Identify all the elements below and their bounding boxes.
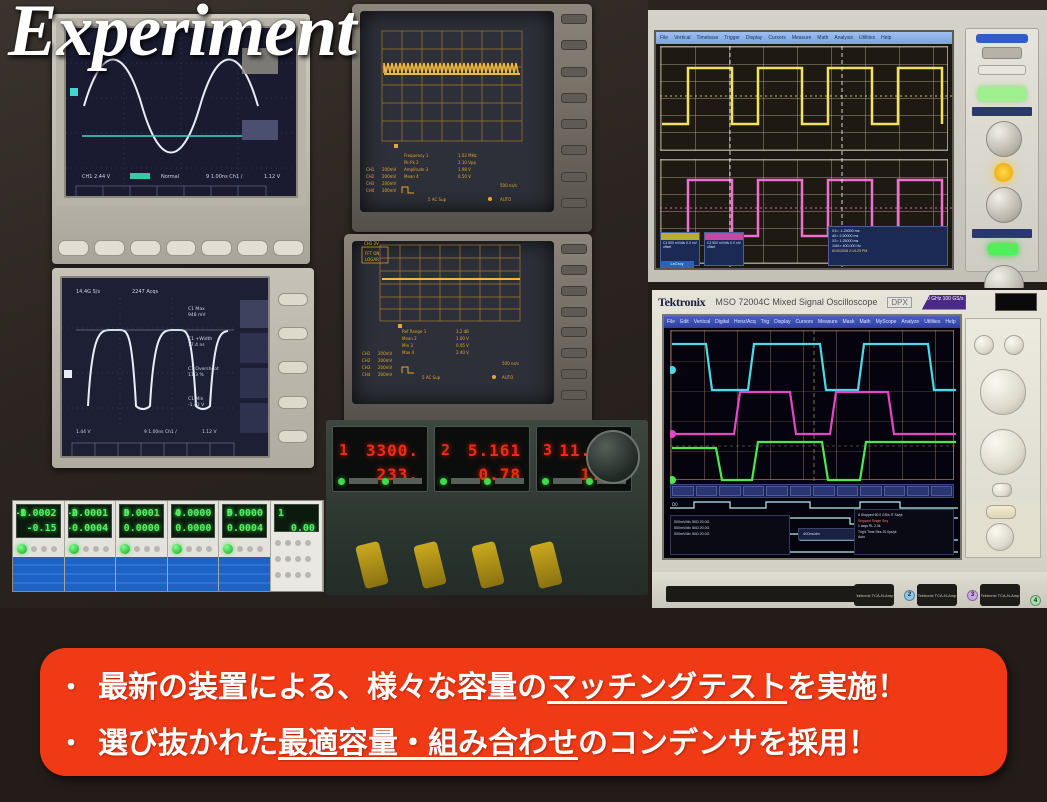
svg-text:Max 4: Max 4 bbox=[402, 350, 415, 355]
lecroy-knob-1[interactable] bbox=[986, 121, 1022, 157]
photo-oscilloscope-clipped: 14.4G S/s 2247 Acqs C1 Max948 mV C1 +Wid… bbox=[52, 268, 314, 468]
svg-text:CH3: CH3 bbox=[362, 365, 371, 370]
psu-1-power-led bbox=[17, 544, 27, 554]
lecroy-menu-utilities[interactable]: Utilities bbox=[859, 35, 875, 41]
psu-2-button[interactable] bbox=[103, 546, 109, 552]
svg-text:Mean 4: Mean 4 bbox=[404, 174, 419, 179]
lecroy-ch1-settings: C1 500 mV/div 0.0 mV offset bbox=[661, 240, 699, 250]
svg-text:9 1.00ns Ch1 /: 9 1.00ns Ch1 / bbox=[144, 429, 177, 435]
psu-3-button[interactable] bbox=[134, 546, 140, 552]
tek-mini-display bbox=[995, 293, 1037, 311]
psu-ctrl-keys[interactable] bbox=[271, 567, 322, 583]
tek-channel-2-connector[interactable]: 2 Tektronix TCA-N-Amp bbox=[904, 584, 957, 606]
meter-2-led bbox=[440, 478, 447, 485]
scope-b-waveform: 14.4G S/s 2247 Acqs C1 Max948 mV C1 +Wid… bbox=[62, 278, 270, 458]
svg-text:200mV: 200mV bbox=[378, 365, 393, 370]
psu-5-controls[interactable] bbox=[219, 541, 270, 557]
lecroy-section-header-2 bbox=[972, 229, 1032, 238]
psu-ctrl-channel: 1 bbox=[278, 508, 284, 519]
scope-a-softkey[interactable] bbox=[130, 240, 161, 256]
psu-module-1: 1 -0.0002 -0.15 bbox=[13, 501, 65, 591]
tek-chassis: Tektronix MSO 72004C Mixed Signal Oscill… bbox=[652, 290, 1047, 608]
tek-front-panel[interactable] bbox=[965, 318, 1041, 558]
psu-4-button[interactable] bbox=[196, 546, 202, 552]
psu-ctrl-key[interactable] bbox=[275, 572, 281, 578]
psu-ctrl-key[interactable] bbox=[295, 556, 301, 562]
summary-banner: ・ 最新の装置による、様々な容量の マッチングテスト を実施！ ・ 選び抜かれた… bbox=[40, 648, 1007, 776]
psu-controller-module: 1 0.00 bbox=[271, 501, 323, 591]
meter-channel-2: 2 5.161 0.78 bbox=[434, 426, 530, 492]
amber-1-softkey[interactable] bbox=[561, 93, 587, 103]
tek-bezel-button[interactable] bbox=[992, 483, 1012, 497]
banner-line-2: ・ 選び抜かれた 最適容量・組み合わせ のコンデンサを採用！ bbox=[58, 716, 989, 772]
tek-bus-segment bbox=[884, 486, 906, 496]
lecroy-front-panel[interactable] bbox=[965, 28, 1039, 272]
psu-ctrl-key[interactable] bbox=[285, 540, 291, 546]
tek-model-label: MSO 72004C Mixed Signal Oscilloscope bbox=[715, 297, 877, 307]
psu-1-value-b: -0.15 bbox=[26, 523, 56, 534]
psu-5-button[interactable] bbox=[237, 546, 243, 552]
tek-bus-segment bbox=[907, 486, 929, 496]
rack-rotary-knob[interactable] bbox=[586, 430, 640, 484]
lecroy-menu-analysis[interactable]: Analysis bbox=[834, 35, 853, 41]
tek-ch2-badge: 2 bbox=[904, 590, 915, 601]
tek-top-header: Tektronix MSO 72004C Mixed Signal Oscill… bbox=[658, 292, 1041, 312]
meter-2-led bbox=[484, 478, 491, 485]
svg-text:AUTO: AUTO bbox=[502, 375, 513, 380]
lecroy-menu-cursors[interactable]: Cursors bbox=[768, 35, 786, 41]
svg-text:200mV: 200mV bbox=[378, 351, 393, 356]
psu-5-button[interactable] bbox=[247, 546, 253, 552]
scope-b-softkey[interactable] bbox=[278, 396, 308, 409]
svg-text:200mV: 200mV bbox=[382, 174, 397, 179]
svg-text:CH1 2.44 V: CH1 2.44 V bbox=[82, 174, 111, 180]
tek-menubar[interactable]: File Edit Vertical Digital Horiz/Acq Tri… bbox=[664, 316, 960, 328]
banner-bullet-1: ・ bbox=[58, 660, 84, 716]
banner-line2-highlight: 最適容量・組み合わせ bbox=[278, 716, 578, 772]
amber-2-softkey[interactable] bbox=[561, 307, 587, 317]
tek-logo-small: Tek bbox=[961, 319, 962, 325]
meter-1-value-top: 3300. bbox=[366, 441, 419, 460]
tek-digital-label-d0: D0 bbox=[672, 502, 678, 507]
tek-menu-mask[interactable]: Mask bbox=[843, 319, 855, 325]
tek-menu-edit[interactable]: Edit bbox=[680, 319, 689, 325]
photo-tektronix-oscilloscope: Tektronix MSO 72004C Mixed Signal Oscill… bbox=[648, 290, 1047, 608]
scope-b-softkey[interactable] bbox=[278, 327, 308, 340]
svg-text:11.3 %: 11.3 % bbox=[188, 372, 204, 378]
tek-menu-file[interactable]: File bbox=[667, 319, 675, 325]
tek-ch4-badge: 4 bbox=[1030, 595, 1041, 606]
svg-text:LOGAR: LOGAR bbox=[365, 257, 379, 262]
psu-4-value-a: 0.0000 bbox=[175, 508, 211, 519]
amber-1-softkey[interactable] bbox=[561, 172, 587, 182]
meter-1-button[interactable] bbox=[349, 478, 378, 484]
psu-ctrl-key[interactable] bbox=[305, 556, 311, 562]
tek-menu-myscope[interactable]: MyScope bbox=[876, 319, 897, 325]
svg-text:FFT ON: FFT ON bbox=[365, 251, 379, 256]
rack-connector-area bbox=[326, 503, 648, 595]
amber-1-waveform: Frequency 1Pk-Pk 2 Amplitude 3Mean 4 1.0… bbox=[360, 11, 554, 212]
svg-text:CH1: CH1 bbox=[366, 167, 375, 172]
psu-4-button[interactable] bbox=[186, 546, 192, 552]
svg-text:Pk-Pk 2: Pk-Pk 2 bbox=[404, 160, 419, 165]
tek-readout-row-3: 500mV/div 50Ω 20.0G bbox=[674, 531, 786, 537]
meter-2-channel: 2 bbox=[441, 441, 451, 459]
lecroy-brand-logo: LeCroy bbox=[660, 261, 694, 268]
psu-ctrl-key[interactable] bbox=[275, 540, 281, 546]
page-title: Experiment bbox=[8, 0, 356, 68]
meter-channel-1: 1 3300. 233. bbox=[332, 426, 428, 492]
amber-1-softkeys[interactable] bbox=[561, 14, 587, 208]
psu-3-button[interactable] bbox=[154, 546, 160, 552]
tek-bus-segment bbox=[672, 486, 694, 496]
tek-menu-cursors[interactable]: Cursors bbox=[796, 319, 814, 325]
psu-3-value-b: 0.0000 bbox=[124, 523, 160, 534]
banner-bullet-2: ・ bbox=[58, 716, 84, 772]
lecroy-menu-timebase[interactable]: Timebase bbox=[696, 35, 718, 41]
banana-plug[interactable] bbox=[529, 541, 563, 589]
banner-line1-part3: を実施！ bbox=[787, 660, 907, 716]
psu-3-value-a: 0.0001 bbox=[124, 508, 160, 519]
svg-text:500 ns/s: 500 ns/s bbox=[500, 183, 517, 188]
tek-brand-logo: Tektronix bbox=[658, 295, 705, 310]
lecroy-white-button[interactable] bbox=[978, 65, 1026, 75]
svg-text:200mV: 200mV bbox=[378, 358, 393, 363]
meter-2-button[interactable] bbox=[495, 478, 524, 484]
psu-ctrl-keys[interactable] bbox=[271, 535, 322, 551]
lecroy-grey-button[interactable] bbox=[982, 47, 1022, 59]
svg-text:C1 Max: C1 Max bbox=[188, 306, 205, 312]
svg-text:3.2 dB: 3.2 dB bbox=[456, 329, 469, 334]
svg-text:1.44 V: 1.44 V bbox=[76, 429, 91, 435]
tek-trigger-button[interactable] bbox=[986, 505, 1016, 519]
svg-text:948 mV: 948 mV bbox=[188, 312, 206, 318]
tek-trigger-level-knob[interactable] bbox=[986, 523, 1014, 551]
psu-3-power-led bbox=[120, 544, 130, 554]
psu-4-power-led bbox=[172, 544, 182, 554]
amber-1-screen: Frequency 1Pk-Pk 2 Amplitude 3Mean 4 1.0… bbox=[360, 11, 554, 212]
psu-2-controls[interactable] bbox=[65, 541, 116, 557]
scope-b-softkey[interactable] bbox=[278, 361, 308, 374]
psu-ctrl-keys[interactable] bbox=[271, 551, 322, 567]
equipment-collage-left: CH1 2.44 V Normal 9 1.00ns Ch1 / 1.12 V bbox=[0, 0, 648, 608]
lecroy-menu-file[interactable]: File bbox=[660, 35, 668, 41]
lecroy-timestamp: 6/15/2008 2:19:25 PM bbox=[832, 249, 944, 254]
lecroy-knob-2[interactable] bbox=[986, 187, 1022, 223]
tek-menu-horizacq[interactable]: Horiz/Acq bbox=[734, 319, 756, 325]
svg-text:0.50 V: 0.50 V bbox=[458, 174, 471, 179]
photo-lecroy-oscilloscope: File Vertical Timebase Trigger Display C… bbox=[648, 0, 1047, 288]
amber-2-softkeys[interactable] bbox=[561, 244, 587, 400]
tek-acq-row-5: Auto bbox=[858, 535, 950, 541]
slide-root: CH1 2.44 V Normal 9 1.00ns Ch1 / 1.12 V bbox=[0, 0, 1047, 802]
psu-2-value-a: -0.0001 bbox=[68, 508, 109, 519]
svg-text:C1 Min: C1 Min bbox=[188, 396, 204, 402]
psu-3-body bbox=[116, 557, 167, 591]
psu-ctrl-key[interactable] bbox=[295, 540, 301, 546]
tek-menu-display[interactable]: Display bbox=[774, 319, 790, 325]
tek-dpx-label: DPX bbox=[887, 297, 911, 308]
psu-module-3: 3 0.0001 0.0000 bbox=[116, 501, 168, 591]
photo-power-meter-rack: 1 3300. 233. 2 5.161 0.78 3 11.904 1.79 bbox=[326, 420, 648, 595]
meter-1-controls[interactable] bbox=[333, 471, 427, 491]
tek-default-setup-knob[interactable] bbox=[1004, 335, 1024, 355]
svg-text:2247 Acqs: 2247 Acqs bbox=[132, 289, 159, 295]
tek-bus-segment bbox=[743, 486, 765, 496]
scope-a-softkey[interactable] bbox=[201, 240, 232, 256]
svg-text:CH3: CH3 bbox=[366, 181, 375, 186]
tek-bus-segment bbox=[813, 486, 835, 496]
lecroy-ch2-label-box: C2 500 mV/div 0.0 mV offset bbox=[704, 232, 744, 266]
banner-line-1: ・ 最新の装置による、様々な容量の マッチングテスト を実施！ bbox=[58, 660, 989, 716]
amber-1-softkey[interactable] bbox=[561, 40, 587, 50]
tek-horizontal-scale-knob[interactable] bbox=[980, 429, 1026, 475]
psu-2-button[interactable] bbox=[83, 546, 89, 552]
svg-text:CH4: CH4 bbox=[366, 188, 375, 193]
tek-menu-help[interactable]: Help bbox=[945, 319, 955, 325]
svg-text:200mV: 200mV bbox=[382, 181, 397, 186]
psu-2-button[interactable] bbox=[93, 546, 99, 552]
psu-1-button[interactable] bbox=[41, 546, 47, 552]
psu-1-body bbox=[13, 557, 64, 591]
amber-2-screen: CH1 2V FFT ONLOGAR Ref Range 1Mean 2 Min… bbox=[352, 241, 554, 404]
psu-ctrl-key[interactable] bbox=[305, 540, 311, 546]
svg-text:500 ns/s: 500 ns/s bbox=[502, 361, 519, 366]
psu-4-controls[interactable] bbox=[168, 541, 219, 557]
tek-bandwidth-badge: 20 GHz 100 GS/s bbox=[922, 295, 966, 310]
svg-text:5 AC Sup: 5 AC Sup bbox=[428, 197, 447, 202]
lecroy-ch2-settings: C2 500 mV/div 0.0 mV offset bbox=[705, 240, 743, 250]
banana-plug[interactable] bbox=[355, 541, 389, 589]
tek-channel-3-connector[interactable]: 3 Tektronix TCA-N-Amp bbox=[967, 584, 1020, 606]
photo-psu-rack: 1 -0.0002 -0.15 2 -0.0001 -0.0004 3 bbox=[12, 500, 324, 592]
svg-text:0.05 V: 0.05 V bbox=[456, 343, 469, 348]
svg-text:9 1.00ns Ch1 /: 9 1.00ns Ch1 / bbox=[206, 174, 243, 180]
svg-text:2.10 Vpp: 2.10 Vpp bbox=[458, 160, 476, 165]
amber-2-softkey[interactable] bbox=[561, 244, 587, 254]
svg-text:1.12 V: 1.12 V bbox=[202, 429, 217, 435]
svg-text:Ref Range 1: Ref Range 1 bbox=[402, 329, 427, 334]
svg-text:CH2: CH2 bbox=[366, 174, 375, 179]
svg-text:CH1: CH1 bbox=[362, 351, 371, 356]
psu-4-body bbox=[168, 557, 219, 591]
tek-ch1-probe[interactable]: Tektronix TCA-N-Amp bbox=[854, 584, 894, 606]
lecroy-amber-indicator bbox=[994, 163, 1013, 182]
svg-text:1.00 V: 1.00 V bbox=[456, 336, 469, 341]
amber-1-softkey[interactable] bbox=[561, 67, 587, 77]
tek-bus-segment bbox=[837, 486, 859, 496]
svg-text:200mV: 200mV bbox=[378, 372, 393, 377]
tek-screen: File Edit Vertical Digital Horiz/Acq Tri… bbox=[662, 314, 962, 560]
psu-module-2: 2 -0.0001 -0.0004 bbox=[65, 501, 117, 591]
psu-1-value-a: -0.0002 bbox=[16, 508, 57, 519]
tek-menu-trig[interactable]: Trig bbox=[761, 319, 769, 325]
lecroy-knob-3[interactable] bbox=[984, 265, 1024, 288]
psu-5-power-led bbox=[223, 544, 233, 554]
svg-text:1.12 V: 1.12 V bbox=[264, 174, 281, 180]
lecroy-menu-measure[interactable]: Measure bbox=[792, 35, 811, 41]
psu-ctrl-key[interactable] bbox=[275, 556, 281, 562]
psu-2-body bbox=[65, 557, 116, 591]
lecroy-menu-help[interactable]: Help bbox=[881, 35, 891, 41]
tek-menu-digital[interactable]: Digital bbox=[715, 319, 729, 325]
lecroy-blue-button[interactable] bbox=[976, 34, 1028, 43]
psu-ctrl-value: 0.00 bbox=[291, 523, 315, 532]
tek-bus-segment bbox=[860, 486, 882, 496]
scope-a-button-row[interactable] bbox=[58, 240, 304, 256]
tek-menu-measure[interactable]: Measure bbox=[818, 319, 837, 325]
tek-ch2-probe[interactable]: Tektronix TCA-N-Amp bbox=[917, 584, 957, 606]
amber-2-softkey[interactable] bbox=[561, 286, 587, 296]
tek-menu-analyze[interactable]: Analyze bbox=[901, 319, 919, 325]
psu-2-display: 2 -0.0001 -0.0004 bbox=[68, 504, 113, 538]
lecroy-chassis: File Vertical Timebase Trigger Display C… bbox=[648, 10, 1047, 282]
lecroy-graticule-area bbox=[660, 46, 948, 228]
banana-plug[interactable] bbox=[471, 541, 505, 589]
lecroy-cursor-readout: X1= -1.25000 ms dX= 2.50000 ms X2= 1.250… bbox=[828, 226, 948, 266]
svg-text:14.4G S/s: 14.4G S/s bbox=[76, 289, 100, 295]
svg-text:2.40 V: 2.40 V bbox=[456, 350, 469, 355]
lecroy-menubar[interactable]: File Vertical Timebase Trigger Display C… bbox=[656, 32, 952, 44]
psu-5-button[interactable] bbox=[257, 546, 263, 552]
photo-amber-crt-flat: CH1 2V FFT ONLOGAR Ref Range 1Mean 2 Min… bbox=[344, 234, 592, 424]
svg-text:-1.43 V: -1.43 V bbox=[188, 402, 205, 408]
meter-3-led bbox=[586, 478, 593, 485]
psu-ctrl-key[interactable] bbox=[305, 572, 311, 578]
banana-plug[interactable] bbox=[413, 541, 447, 589]
tek-trigger-section bbox=[966, 501, 1040, 557]
scope-b-screen: 14.4G S/s 2247 Acqs C1 Max948 mV C1 +Wid… bbox=[60, 276, 270, 458]
lecroy-menu-trigger[interactable]: Trigger bbox=[724, 35, 740, 41]
psu-ctrl-key[interactable] bbox=[295, 572, 301, 578]
lecroy-section-header-1 bbox=[972, 107, 1032, 116]
svg-text:AUTO: AUTO bbox=[500, 197, 511, 202]
tek-menu-math[interactable]: Math bbox=[859, 319, 870, 325]
svg-text:Min 3: Min 3 bbox=[402, 343, 413, 348]
psu-module-5: 5 0.0000 0.0004 bbox=[219, 501, 271, 591]
lecroy-run-indicator bbox=[988, 243, 1018, 255]
meter-3-led bbox=[542, 478, 549, 485]
psu-3-button[interactable] bbox=[144, 546, 150, 552]
tek-menu-vertical[interactable]: Vertical bbox=[694, 319, 710, 325]
lecroy-screen: File Vertical Timebase Trigger Display C… bbox=[654, 30, 954, 270]
amber-1-softkey[interactable] bbox=[561, 14, 587, 24]
psu-2-power-led bbox=[69, 544, 79, 554]
psu-ctrl-key[interactable] bbox=[285, 572, 291, 578]
meter-3-channel: 3 bbox=[543, 441, 553, 459]
svg-text:C1 Overshoot: C1 Overshoot bbox=[188, 366, 219, 372]
tek-analog-waveforms bbox=[670, 330, 958, 490]
meter-2-button[interactable] bbox=[451, 478, 480, 484]
psu-3-display: 3 0.0001 0.0000 bbox=[119, 504, 164, 538]
amber-1-softkey[interactable] bbox=[561, 119, 587, 129]
tek-autoset-knob[interactable] bbox=[974, 335, 994, 355]
tek-bus-segment bbox=[766, 486, 788, 496]
scope-b-softkeys[interactable] bbox=[278, 282, 308, 454]
scope-b-softkey[interactable] bbox=[278, 430, 308, 443]
svg-text:Normal: Normal bbox=[161, 174, 179, 180]
lecroy-green-indicator bbox=[978, 87, 1026, 101]
scope-a-softkey[interactable] bbox=[94, 240, 125, 256]
amber-1-softkey[interactable] bbox=[561, 145, 587, 155]
scope-a-softkey[interactable] bbox=[273, 240, 304, 256]
meter-1-button[interactable] bbox=[393, 478, 422, 484]
tek-bus-segment bbox=[931, 486, 953, 496]
svg-text:1.02 MHz: 1.02 MHz bbox=[458, 153, 477, 158]
amber-2-softkey[interactable] bbox=[561, 265, 587, 275]
lecroy-menu-display[interactable]: Display bbox=[746, 35, 762, 41]
svg-text:Amplitude 3: Amplitude 3 bbox=[404, 167, 429, 172]
photo-amber-crt-comb: Frequency 1Pk-Pk 2 Amplitude 3Mean 4 1.0… bbox=[352, 4, 592, 232]
tek-connector-row: 1 Tektronix TCA-N-Amp 2 Tektronix TCA-N-… bbox=[652, 572, 1047, 608]
scope-a-softkey[interactable] bbox=[237, 240, 268, 256]
svg-text:CH2: CH2 bbox=[362, 358, 371, 363]
tek-disk-drive[interactable] bbox=[666, 586, 856, 602]
psu-3-controls[interactable] bbox=[116, 541, 167, 557]
tek-digital-bus-row bbox=[670, 484, 954, 498]
svg-text:200mV: 200mV bbox=[382, 188, 397, 193]
meter-3-button[interactable] bbox=[553, 478, 582, 484]
svg-text:Frequency 1: Frequency 1 bbox=[404, 153, 429, 158]
svg-text:C1 +Width: C1 +Width bbox=[188, 336, 212, 342]
scope-a-softkey[interactable] bbox=[166, 240, 197, 256]
tek-menu-utilities[interactable]: Utilities bbox=[924, 319, 940, 325]
psu-4-value-b: 0.0000 bbox=[175, 523, 211, 534]
svg-text:CH1 2V: CH1 2V bbox=[364, 241, 379, 246]
tek-acquisition-readout: A Stopped 50.0 GS/s IT Sa/pt Stopped Sin… bbox=[854, 509, 954, 555]
meter-1-channel: 1 bbox=[339, 441, 349, 459]
psu-module-4: 4 0.0000 0.0000 bbox=[168, 501, 220, 591]
meter-2-controls[interactable] bbox=[435, 471, 529, 491]
psu-4-button[interactable] bbox=[206, 546, 212, 552]
psu-2-value-b: -0.0004 bbox=[68, 523, 109, 534]
psu-1-button[interactable] bbox=[31, 546, 37, 552]
psu-5-display: 5 0.0000 0.0004 bbox=[222, 504, 267, 538]
amber-2-softkey[interactable] bbox=[561, 369, 587, 379]
meter-2-value-top: 5.161 bbox=[468, 441, 521, 460]
scope-b-softkey[interactable] bbox=[278, 293, 308, 306]
svg-text:1.98 V: 1.98 V bbox=[458, 167, 471, 172]
banner-line2-part1: 選び抜かれた bbox=[98, 716, 278, 772]
scope-a-softkey[interactable] bbox=[58, 240, 89, 256]
tek-ch3-probe[interactable]: Tektronix TCA-N-Amp bbox=[980, 584, 1020, 606]
tek-vertical-scale-knob[interactable] bbox=[980, 369, 1026, 415]
lecroy-menu-math[interactable]: Math bbox=[817, 35, 828, 41]
svg-text:17.4 ns: 17.4 ns bbox=[188, 342, 205, 348]
psu-1-button[interactable] bbox=[51, 546, 57, 552]
svg-text:Mean 2: Mean 2 bbox=[402, 336, 417, 341]
amber-2-softkey[interactable] bbox=[561, 390, 587, 400]
svg-text:CH4: CH4 bbox=[362, 372, 371, 377]
lecroy-menu-vertical[interactable]: Vertical bbox=[674, 35, 690, 41]
tek-bus-segment bbox=[790, 486, 812, 496]
amber-2-softkey[interactable] bbox=[561, 327, 587, 337]
psu-ctrl-key[interactable] bbox=[285, 556, 291, 562]
psu-4-display: 4 0.0000 0.0000 bbox=[171, 504, 216, 538]
tek-bus-segment bbox=[696, 486, 718, 496]
amber-1-softkey[interactable] bbox=[561, 198, 587, 208]
psu-ctrl-display: 1 0.00 bbox=[274, 504, 319, 532]
amber-2-softkey[interactable] bbox=[561, 348, 587, 358]
amber-2-waveform: CH1 2V FFT ONLOGAR Ref Range 1Mean 2 Min… bbox=[352, 241, 554, 404]
tek-channel-readout: 500mV/div 50Ω 20.0G 500mV/div 50Ω 20.0G … bbox=[670, 515, 790, 555]
psu-1-controls[interactable] bbox=[13, 541, 64, 557]
tek-channel-4-connector[interactable]: 4 bbox=[1030, 595, 1041, 606]
tek-bus-segment bbox=[719, 486, 741, 496]
meter-1-led bbox=[338, 478, 345, 485]
svg-text:5 AC Sup: 5 AC Sup bbox=[422, 375, 441, 380]
banner-line2-part3: のコンデンサを採用！ bbox=[578, 716, 878, 772]
